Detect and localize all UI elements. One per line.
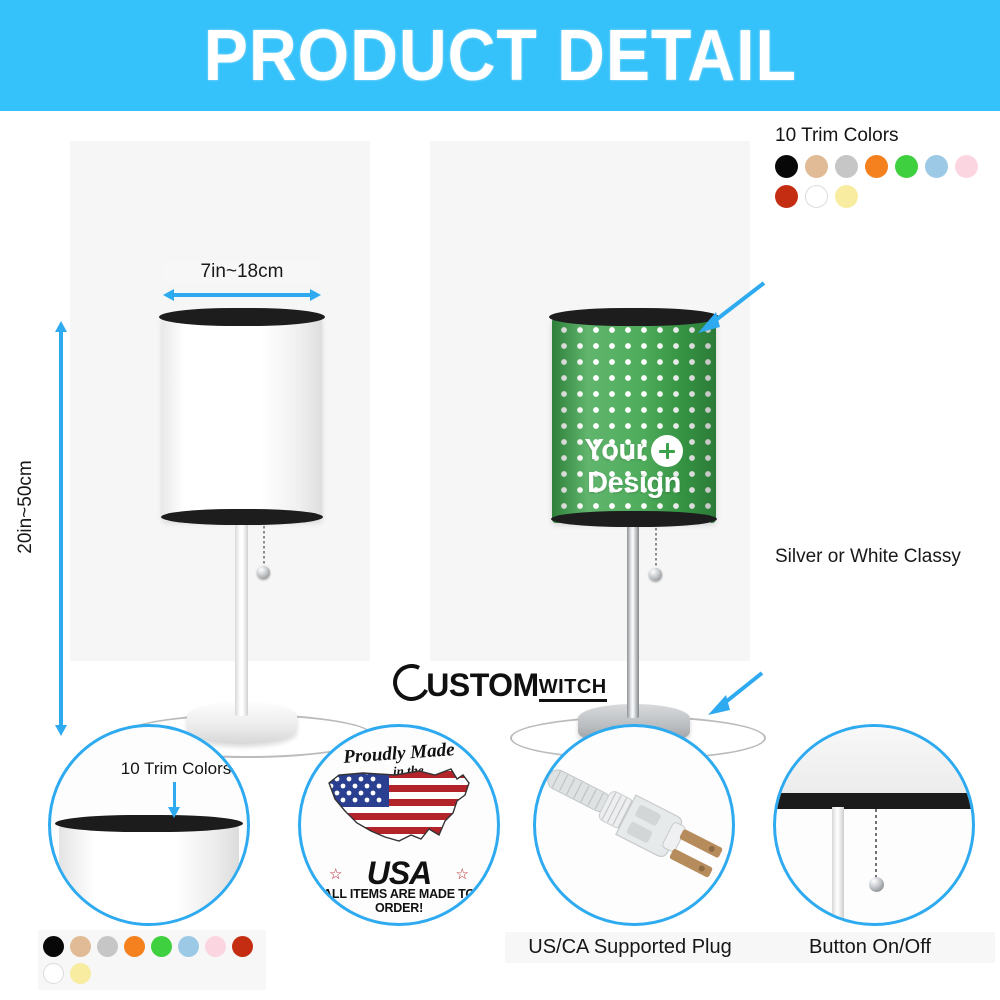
feature-trim-colors-title: 10 Trim Colors (51, 759, 250, 779)
trim-swatch-gray[interactable] (835, 155, 858, 178)
trim-swatch-yellow[interactable] (70, 963, 91, 984)
feature-circle: Proudly Made in the (298, 724, 500, 926)
trim-colors-title: 10 Trim Colors (775, 125, 1000, 147)
lamp-shade-green: Your Design (552, 316, 716, 523)
down-arrow-icon (168, 807, 180, 818)
made-to-order-text: ALL ITEMS ARE MADE TO ORDER! (301, 887, 497, 915)
width-dimension-arrow (163, 289, 321, 301)
trim-colors-callout-top: 10 Trim Colors (775, 125, 1000, 208)
feature-button-onoff: Button On/Off (745, 716, 995, 1000)
feature-onoff-label: Button On/Off (745, 932, 995, 963)
brand-name-witch: WITCH (539, 676, 607, 702)
feature-circle (533, 724, 735, 926)
product-detail-page: PRODUCT DETAIL 7in~18cm 20in~50cm (0, 0, 1000, 1000)
brand-name-custom: USTOM (426, 667, 538, 703)
feature-plug: US/CA Supported Plug (505, 716, 755, 1000)
trim-swatch-light-blue[interactable] (925, 155, 948, 178)
trim-swatch-gray[interactable] (97, 936, 118, 957)
feature-circle: 10 Trim Colors (48, 724, 250, 926)
arrow-shaft (172, 293, 312, 297)
shade-trim-bottom-white (161, 509, 323, 525)
trim-swatch-black[interactable] (43, 936, 64, 957)
trim-swatch-rust-red[interactable] (232, 936, 253, 957)
trim-swatch-yellow[interactable] (835, 185, 858, 208)
pull-chain-ball[interactable] (257, 566, 270, 579)
shade-trim-top-white (159, 308, 325, 326)
trim-swatch-tan[interactable] (805, 155, 828, 178)
shade-trim-bottom-green (551, 511, 717, 527)
page-header-banner: PRODUCT DETAIL (0, 0, 1000, 111)
trim-swatch-orange[interactable] (124, 936, 145, 957)
trim-swatch-green[interactable] (151, 936, 172, 957)
shade-bottom-closeup (773, 724, 975, 797)
trim-swatch-pink[interactable] (955, 155, 978, 178)
width-dimension-label: 7in~18cm (163, 261, 321, 283)
trim-swatch-green[interactable] (895, 155, 918, 178)
plus-icon (651, 435, 683, 467)
usa-flag-map-icon (323, 765, 479, 853)
trim-swatch-pink[interactable] (205, 936, 226, 957)
shade-surface (162, 316, 322, 521)
design-line-1: Your (585, 434, 647, 466)
feature-panels: 10 Trim Colors Proudly Made in the (0, 716, 1000, 1000)
shade-trim-closeup (55, 815, 243, 832)
height-dimension-label: 20in~50cm (15, 442, 37, 572)
your-design-text: Your Design (552, 434, 716, 500)
pull-chain-ball-closeup[interactable] (869, 877, 884, 892)
trim-swatch-black[interactable] (775, 155, 798, 178)
trim-swatch-rust-red[interactable] (775, 185, 798, 208)
trim-swatch-white[interactable] (43, 963, 64, 984)
trim-swatch-tan[interactable] (70, 936, 91, 957)
feature-plug-label: US/CA Supported Plug (505, 932, 755, 963)
page-title: PRODUCT DETAIL (203, 15, 796, 97)
arrow-head-right-icon (310, 289, 321, 301)
trim-swatch-light-blue[interactable] (178, 936, 199, 957)
feature-circle (773, 724, 975, 926)
shade-closeup (59, 823, 239, 926)
shade-trim-closeup (773, 793, 975, 809)
trim-callout-arrow-icon (690, 279, 770, 335)
brand-logo: USTOMWITCH (0, 664, 1000, 704)
design-line-2: Design (587, 467, 681, 499)
trim-swatch-orange[interactable] (865, 155, 888, 178)
pull-chain-closeup[interactable] (875, 809, 877, 881)
down-arrow-shaft (173, 782, 176, 810)
trim-swatch-white[interactable] (805, 185, 828, 208)
lamp-pole-closeup (832, 807, 844, 925)
lamp-shade-white (162, 316, 322, 521)
pull-chain-ball[interactable] (649, 568, 662, 581)
feature-made-in-usa: Proudly Made in the (270, 716, 520, 1000)
power-plug-icon (542, 741, 732, 911)
trim-color-swatch-list-bottom (38, 930, 266, 990)
trim-color-swatch-list (775, 155, 1000, 208)
star-right-icon: ☆ (456, 865, 469, 883)
feature-trim-colors: 10 Trim Colors (20, 716, 270, 1000)
base-finish-label: Silver or White Classy (775, 546, 961, 568)
